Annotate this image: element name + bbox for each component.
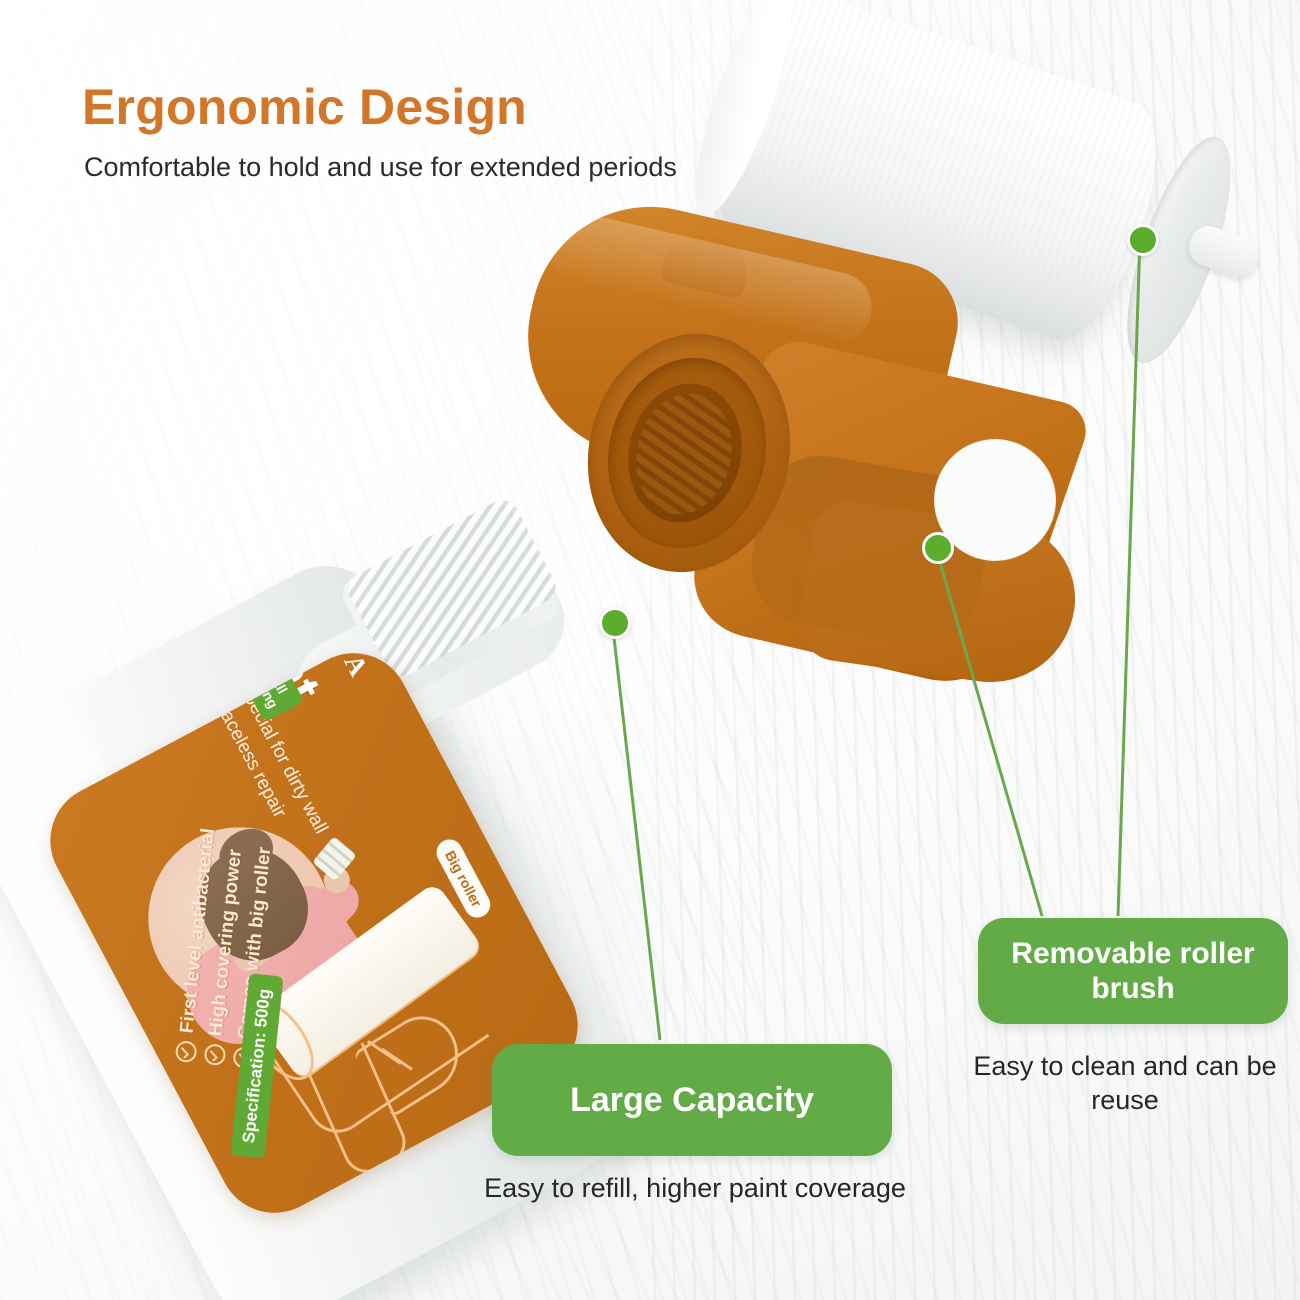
infographic-canvas: Ergonomic Design Comfortable to hold and… [0,0,1300,1300]
callout-caption-removable-roller-brush: Easy to clean and can be reuse [960,1050,1290,1118]
check-circle-icon [203,1043,226,1066]
page-subtitle: Comfortable to hold and use for extended… [84,152,677,183]
paint-bottle: XIGUANJIA Roller Paint Special for dirty… [40,520,680,1280]
callout-dot-bottle-capacity [599,607,631,639]
callout-dot-handle [922,532,954,564]
callout-pill-large-capacity[interactable]: Large Capacity [492,1044,892,1156]
check-circle-icon [174,1040,197,1063]
callout-pill-removable-roller-brush[interactable]: Removable roller brush [978,918,1288,1024]
callout-caption-large-capacity: Easy to refill, higher paint coverage [430,1172,960,1206]
page-title: Ergonomic Design [82,78,527,136]
callout-dot-roller-sleeve [1127,224,1159,256]
